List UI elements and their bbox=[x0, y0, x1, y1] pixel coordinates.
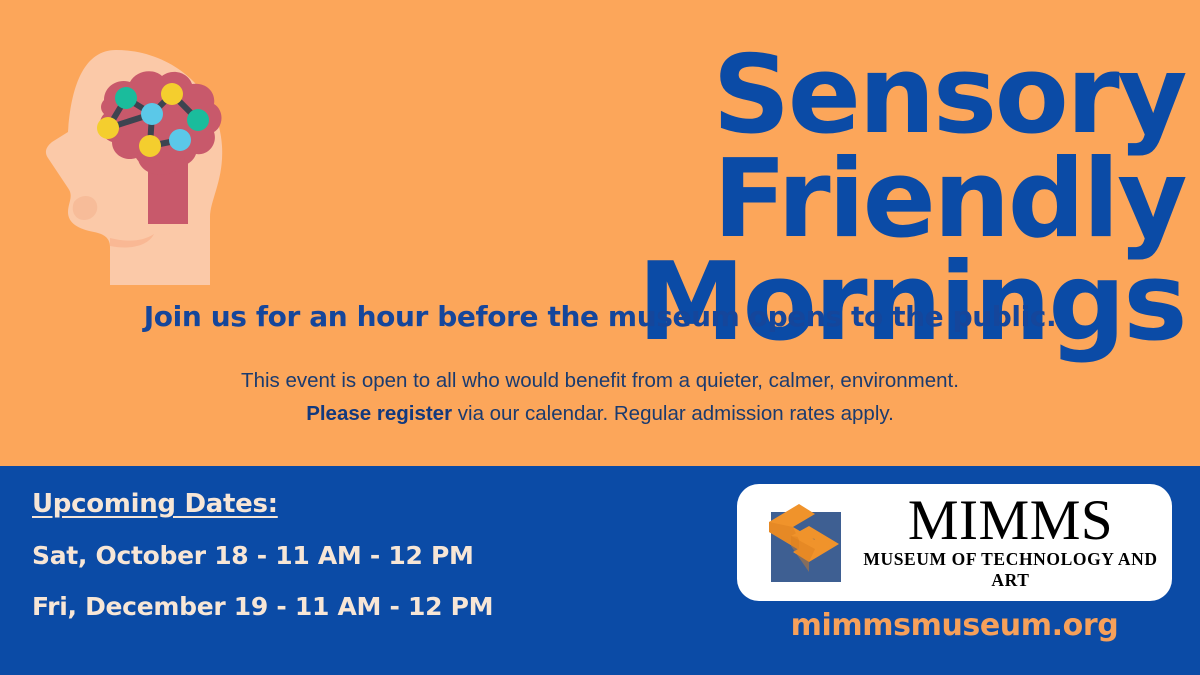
body-copy: This event is open to all who would bene… bbox=[0, 364, 1200, 430]
website-url[interactable]: mimmsmuseum.org bbox=[737, 608, 1172, 643]
mimms-logo-mark-icon bbox=[761, 500, 847, 586]
upcoming-dates-heading: Upcoming Dates: bbox=[32, 489, 493, 519]
mimms-logo-card: MIMMS MUSEUM OF TECHNOLOGY AND ART bbox=[737, 484, 1172, 601]
subtitle: Join us for an hour before the museum op… bbox=[0, 300, 1200, 333]
body-line-1: This event is open to all who would bene… bbox=[0, 364, 1200, 397]
register-emphasis: Please register bbox=[306, 402, 452, 425]
logo-tagline: MUSEUM OF TECHNOLOGY AND ART bbox=[861, 549, 1160, 591]
head-with-brain-icon bbox=[38, 42, 248, 292]
top-orange-panel: Sensory Friendly Mornings Join us for an… bbox=[0, 0, 1200, 466]
logo-wordmark: MIMMS bbox=[861, 494, 1160, 548]
date-item-1: Sat, October 18 - 11 AM - 12 PM bbox=[32, 541, 493, 570]
body-line-2: Please register via our calendar. Regula… bbox=[0, 397, 1200, 430]
body-line-2-rest: via our calendar. Regular admission rate… bbox=[452, 402, 894, 425]
poster-canvas: Sensory Friendly Mornings Join us for an… bbox=[0, 0, 1200, 675]
mimms-logo-text: MIMMS MUSEUM OF TECHNOLOGY AND ART bbox=[861, 494, 1172, 592]
date-item-2: Fri, December 19 - 11 AM - 12 PM bbox=[32, 592, 493, 621]
upcoming-dates-block: Upcoming Dates: Sat, October 18 - 11 AM … bbox=[32, 489, 493, 643]
headline-line-1: Sensory Friendly bbox=[240, 44, 1185, 251]
